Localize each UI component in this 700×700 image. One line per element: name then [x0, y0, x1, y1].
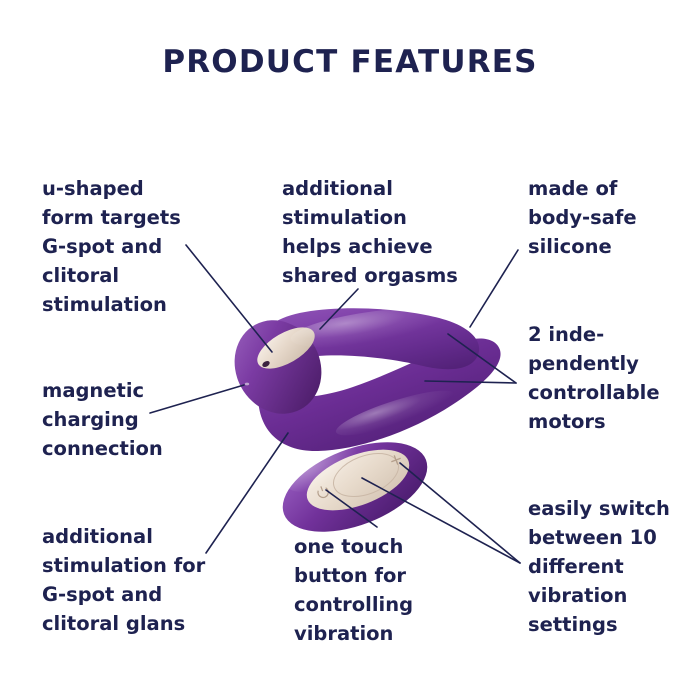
callout-u-shaped-form: u-shaped form targets G-spot and clitora… — [42, 174, 212, 319]
side-contact-marker-icon — [245, 383, 249, 386]
product-features-infographic: PRODUCT FEATURES — [0, 0, 700, 700]
callout-additional-stimulation-glans: additional stimulation for G-spot and cl… — [42, 522, 222, 638]
callout-independent-motors: 2 inde- pendently controllable motors — [528, 320, 690, 436]
callout-one-touch-button: one touch button for controlling vibrati… — [294, 532, 454, 648]
callout-magnetic-charging: magnetic charging connection — [42, 376, 212, 463]
callout-additional-stimulation-shared: additional stimulation helps achieve sha… — [282, 174, 482, 290]
main-device — [218, 301, 500, 451]
callout-body-safe-silicone: made of body-safe silicone — [528, 174, 688, 261]
callout-vibration-settings: easily switch between 10 different vibra… — [528, 494, 693, 639]
